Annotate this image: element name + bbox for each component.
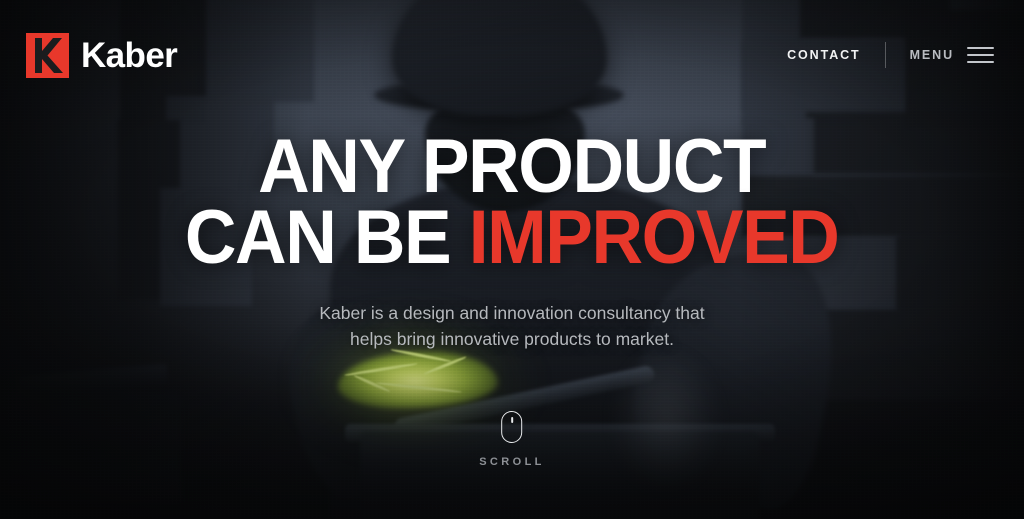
hero-section: Kaber CONTACT MENU ANY PRODUCT CAN BE IM… xyxy=(0,0,1024,519)
headline-accent: IMPROVED xyxy=(469,195,839,280)
site-header: Kaber CONTACT MENU xyxy=(0,0,1024,110)
kaber-k-mark-icon xyxy=(26,33,69,78)
hamburger-icon xyxy=(967,47,994,63)
headline-plain: CAN BE xyxy=(185,195,469,280)
main-navigation: CONTACT MENU xyxy=(787,42,994,68)
headline-line-2: CAN BE IMPROVED xyxy=(185,203,839,274)
subcopy-line-2: helps bring innovative products to marke… xyxy=(350,329,674,349)
subcopy-line-1: Kaber is a design and innovation consult… xyxy=(319,303,704,323)
page-title: ANY PRODUCT CAN BE IMPROVED xyxy=(185,132,839,273)
menu-label: MENU xyxy=(910,48,954,62)
menu-toggle[interactable]: MENU xyxy=(886,47,994,63)
logo[interactable]: Kaber xyxy=(26,33,177,78)
logo-wordmark: Kaber xyxy=(81,38,177,73)
hero-subcopy: Kaber is a design and innovation consult… xyxy=(319,301,704,353)
nav-contact-link[interactable]: CONTACT xyxy=(787,48,884,62)
